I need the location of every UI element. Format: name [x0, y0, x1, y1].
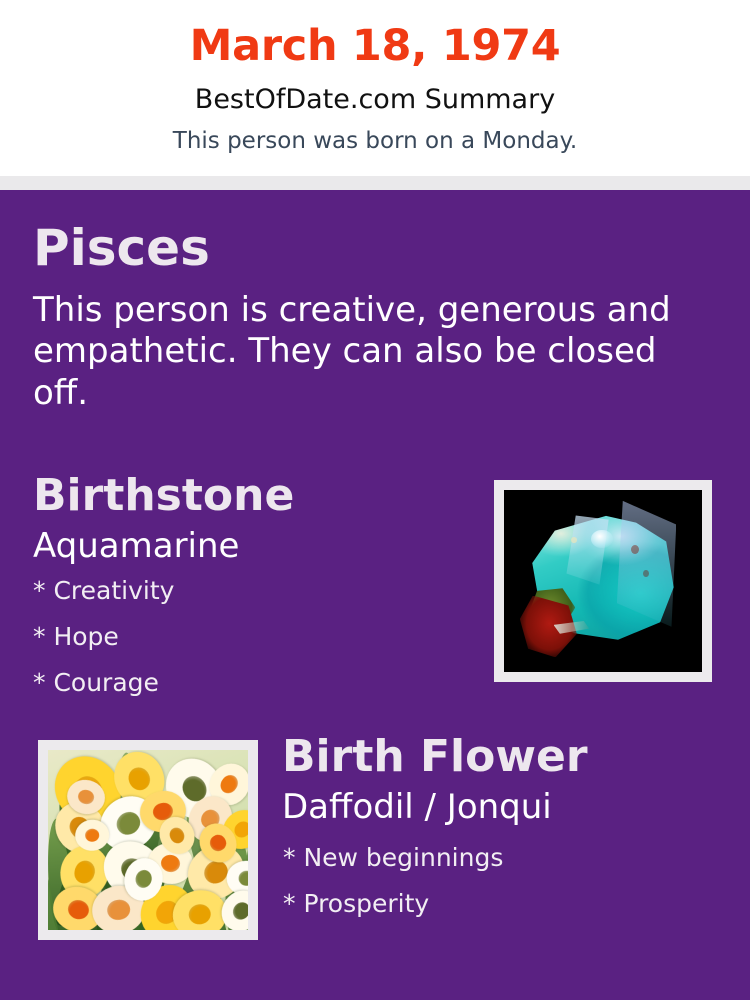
zodiac-description: This person is creative, generous and em…: [33, 290, 713, 414]
list-item: * Creativity: [33, 578, 174, 603]
birth-flower-image: [48, 750, 248, 930]
birthstone-image: [504, 490, 702, 672]
content-panel: Pisces This person is creative, generous…: [0, 190, 750, 1000]
birth-flower-traits-list: * New beginnings * Prosperity: [283, 845, 503, 937]
birth-flower-heading: Birth Flower: [282, 735, 588, 779]
daffodil-corona-icon: [134, 869, 154, 891]
page-title-date: March 18, 1974: [0, 25, 750, 68]
gem-inclusion-icon: [631, 545, 639, 554]
daffodil-corona-icon: [167, 825, 187, 846]
site-name-subtitle: BestOfDate.com Summary: [0, 86, 750, 113]
gem-inclusion-icon: [571, 537, 577, 542]
birthstone-heading: Birthstone: [33, 474, 294, 518]
born-weekday-text: This person was born on a Monday.: [0, 130, 750, 153]
birth-flower-image-frame: [38, 740, 258, 940]
daffodil-corona-icon: [65, 897, 90, 921]
zodiac-sign-heading: Pisces: [33, 223, 210, 273]
birthday-summary-card: March 18, 1974 BestOfDate.com Summary Th…: [0, 0, 750, 1000]
daffodil-corona-icon: [238, 871, 248, 886]
list-item: * Prosperity: [283, 891, 503, 916]
daffodil-corona-icon: [160, 853, 182, 873]
daffodil-corona-icon: [187, 903, 213, 927]
list-item: * New beginnings: [283, 845, 503, 870]
daffodil-corona-icon: [72, 858, 98, 885]
list-item: * Courage: [33, 670, 174, 695]
birthstone-name: Aquamarine: [33, 529, 239, 563]
daffodil-corona-icon: [125, 764, 154, 794]
gem-highlight-icon: [591, 530, 613, 548]
daffodil-corona-icon: [106, 898, 131, 921]
header-divider: [0, 176, 750, 190]
birthstone-traits-list: * Creativity * Hope * Courage: [33, 578, 174, 716]
gem-inclusion-icon: [643, 570, 649, 577]
header: March 18, 1974 BestOfDate.com Summary Th…: [0, 0, 750, 176]
daffodil-corona-icon: [76, 788, 95, 806]
daffodil-corona-icon: [218, 773, 242, 797]
birthstone-image-frame: [494, 480, 712, 682]
daffodil-corona-icon: [229, 899, 248, 923]
daffodil-corona-icon: [207, 832, 229, 854]
list-item: * Hope: [33, 624, 174, 649]
daffodil-corona-icon: [84, 828, 99, 842]
birth-flower-name: Daffodil / Jonqui: [282, 790, 552, 824]
